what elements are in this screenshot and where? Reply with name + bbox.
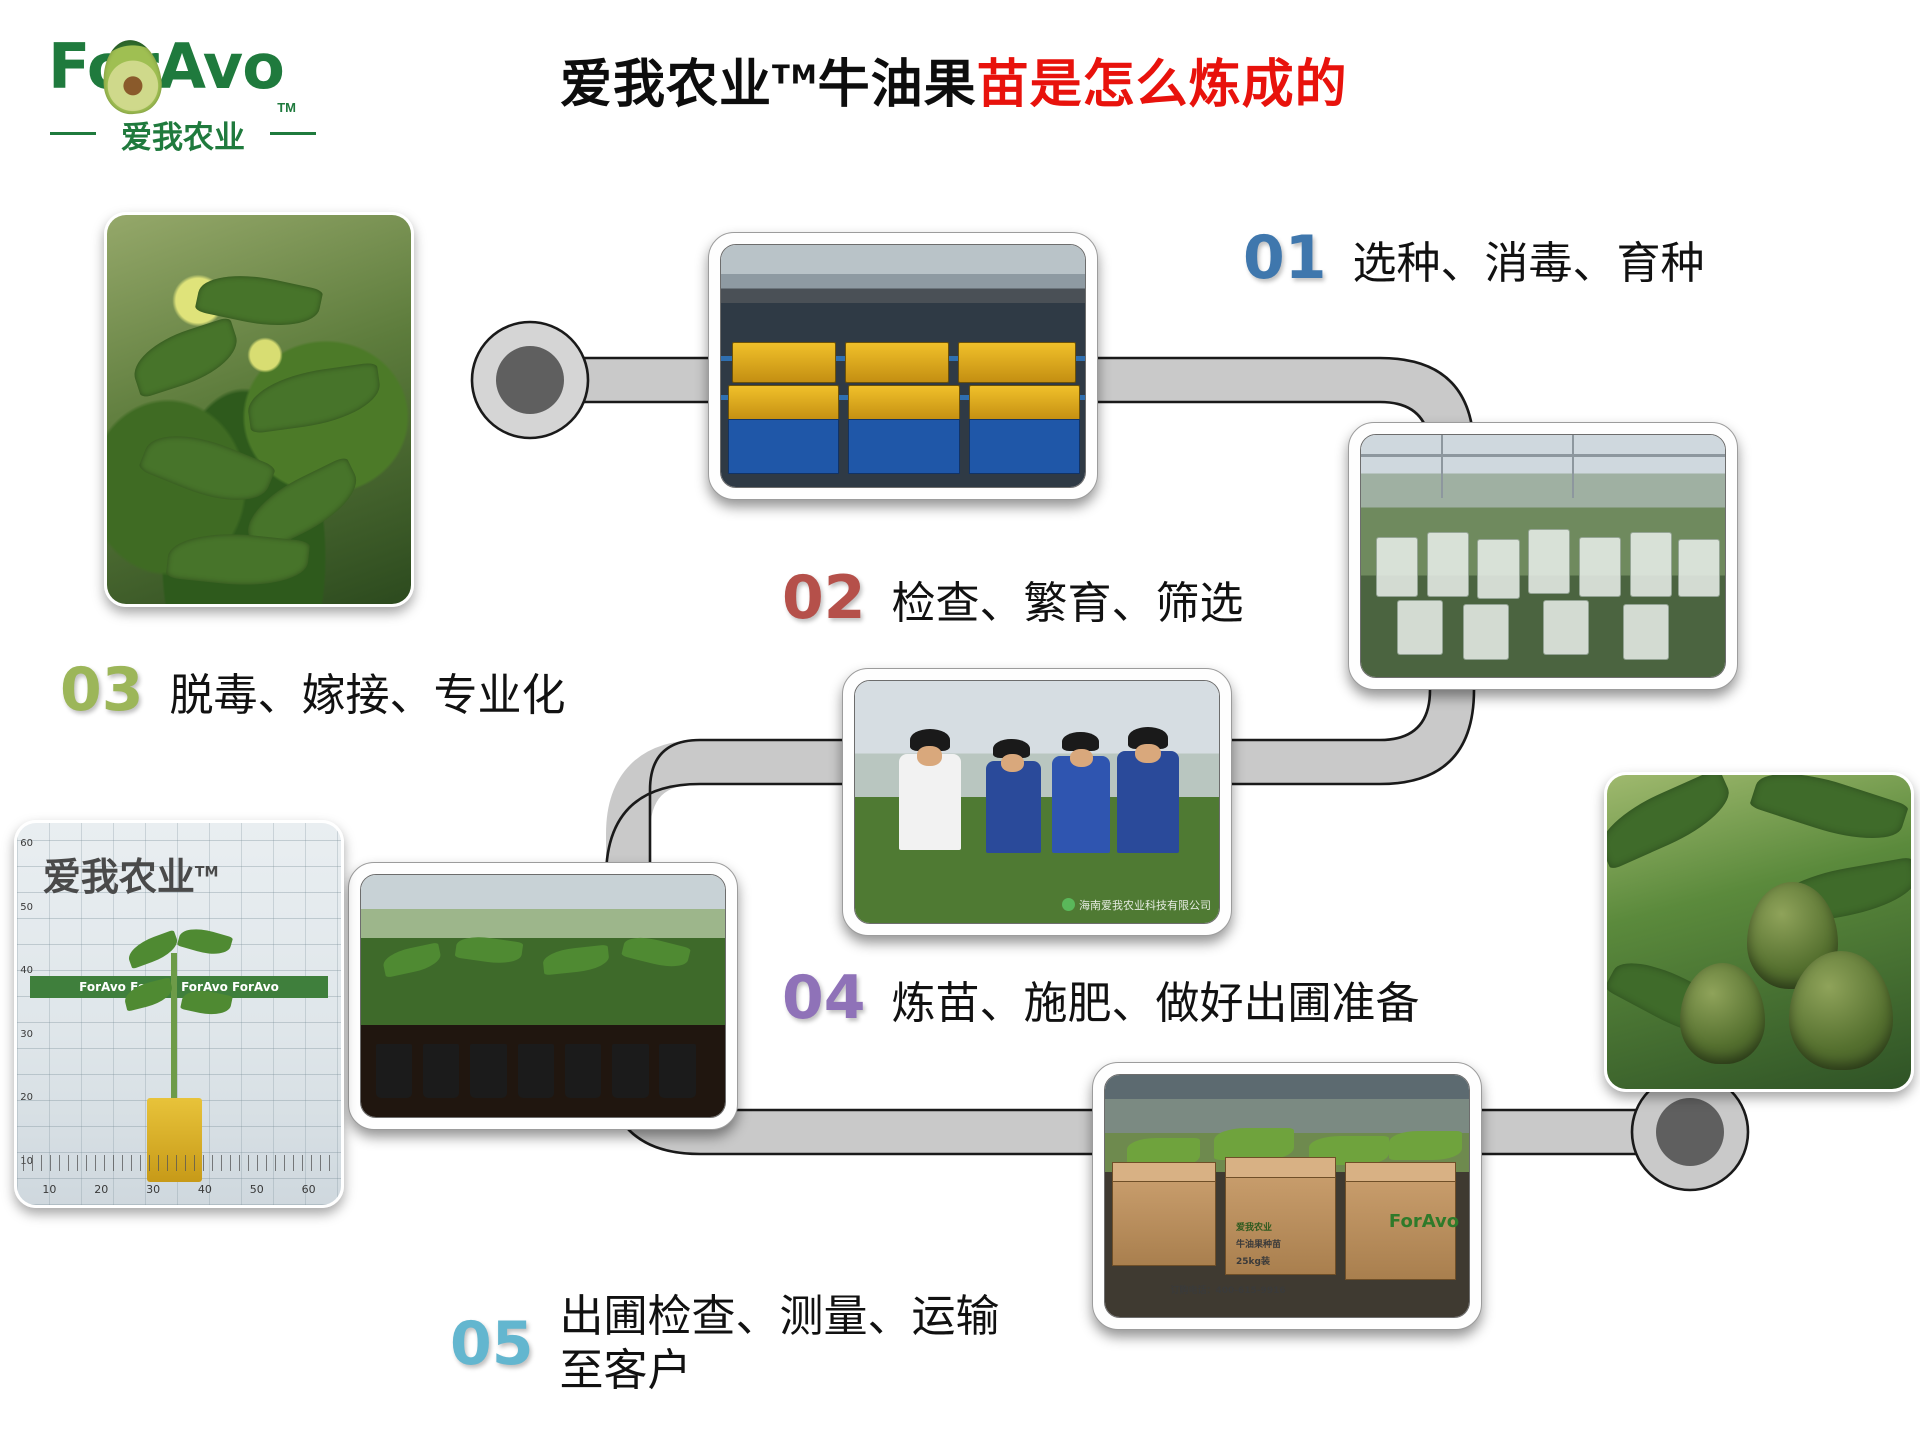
photo-potted-rows [348, 862, 738, 1130]
photo-avocados-on-tree [1604, 772, 1914, 1092]
carton-brand: 爱我农业 [1236, 1220, 1272, 1233]
carton-phone: 订购电话：400-615-9916 [1171, 1283, 1286, 1296]
step-03-number: 03 [60, 660, 144, 720]
photo-packing-cartons: 爱我农业 牛油果种苗 25kg装 订购电话：400-615-9916 ForAv… [1092, 1062, 1482, 1330]
photo-watermark: 海南爱我农业科技有限公司 [1062, 897, 1211, 913]
step-01-label: 选种、消毒、育种 [1353, 237, 1705, 291]
step-04: 04 炼苗、施肥、做好出圃准备 [782, 968, 1420, 1031]
infographic-canvas: ForAvo 爱我农业 TM 爱我农业TM牛油果苗是怎么炼成的 [0, 0, 1920, 1440]
step-01: 01 选种、消毒、育种 [1243, 228, 1705, 291]
carton-sub: 牛油果种苗 [1236, 1237, 1281, 1250]
step-05-number: 05 [450, 1314, 534, 1374]
step-05-label: 出圃检查、测量、运输 至客户 [560, 1290, 1000, 1397]
step-03: 03 脱毒、嫁接、专业化 [60, 660, 566, 723]
carton-weight: 25kg装 [1236, 1254, 1270, 1267]
photo-seed-trays [708, 232, 1098, 500]
photo-seedling [104, 212, 414, 607]
step-03-label: 脱毒、嫁接、专业化 [170, 669, 566, 723]
ruler-vertical-scale: 605040302010 [20, 838, 38, 1167]
step-05: 05 出圃检查、测量、运输 至客户 [450, 1290, 1000, 1397]
step-01-number: 01 [1243, 228, 1327, 288]
photo-measurement-board: 605040302010 爱我农业TM ForAvo ForAvo ForAvo… [14, 820, 344, 1208]
carton-foravo: ForAvo [1389, 1211, 1459, 1232]
flow-start-node [472, 322, 588, 438]
ruler-horizontal-scale: 102030405060 [23, 1183, 334, 1197]
step-02: 02 检查、繁育、筛选 [782, 568, 1244, 631]
step-04-label: 炼苗、施肥、做好出圃准备 [892, 977, 1420, 1031]
watermark-text: 海南爱我农业科技有限公司 [1079, 900, 1211, 912]
step-02-label: 检查、繁育、筛选 [892, 577, 1244, 631]
step-02-number: 02 [782, 568, 866, 628]
board-brand-title: 爱我农业TM [43, 846, 219, 901]
step-04-number: 04 [782, 968, 866, 1028]
photo-grafted-rows [1348, 422, 1738, 690]
board-brand-strip: ForAvo ForAvo ForAvo ForAvo [30, 976, 328, 998]
photo-technicians: 海南爱我农业科技有限公司 [842, 668, 1232, 936]
